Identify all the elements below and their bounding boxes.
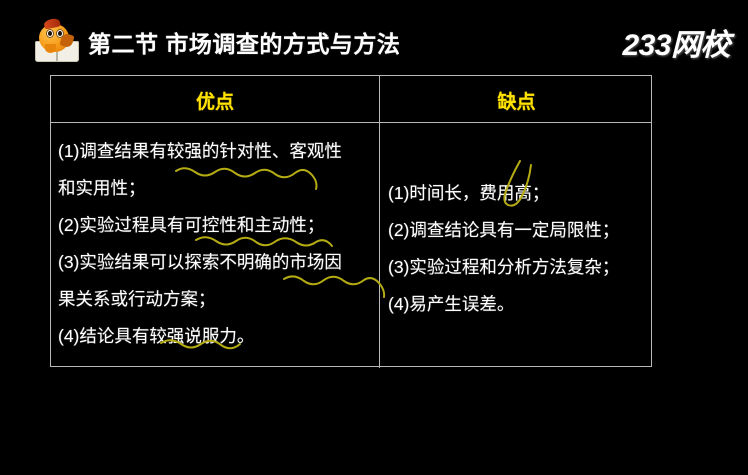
page-title: 第二节 市场调查的方式与方法 [88,25,400,59]
list-item: (1)调查结果有较强的针对性、客观性 [58,133,378,170]
table-column-divider [379,76,380,368]
list-item: (2)调查结论具有一定局限性； [388,212,650,249]
comparison-table: 优点 缺点 (1)调查结果有较强的针对性、客观性 和实用性； (2)实验过程具有… [50,75,652,367]
table-cell-disadvantages: (1)时间长，费用高； (2)调查结论具有一定局限性； (3)实验过程和分析方法… [388,175,650,323]
list-item: (4)结论具有较强说服力。 [58,318,378,355]
list-item: 果关系或行动方案； [58,281,378,318]
list-item: (3)实验过程和分析方法复杂； [388,249,650,286]
list-item: 和实用性； [58,170,378,207]
list-item: (4)易产生误差。 [388,286,650,323]
list-item: (2)实验过程具有可控性和主动性； [58,207,378,244]
chick-reading-book-icon [32,18,82,64]
slide-canvas: 第二节 市场调查的方式与方法 233网校 优点 缺点 (1)调查结果有较强的针对… [0,0,748,475]
slide-header: 第二节 市场调查的方式与方法 233网校 [0,0,748,72]
list-item: (3)实验结果可以探索不明确的市场因 [58,244,378,281]
table-header-advantages: 优点 [51,87,379,114]
brand-logo-233wangxiao: 233网校 [622,20,730,64]
table-header-disadvantages: 缺点 [380,87,653,114]
table-cell-advantages: (1)调查结果有较强的针对性、客观性 和实用性； (2)实验过程具有可控性和主动… [58,133,378,355]
list-item: (1)时间长，费用高； [388,175,650,212]
